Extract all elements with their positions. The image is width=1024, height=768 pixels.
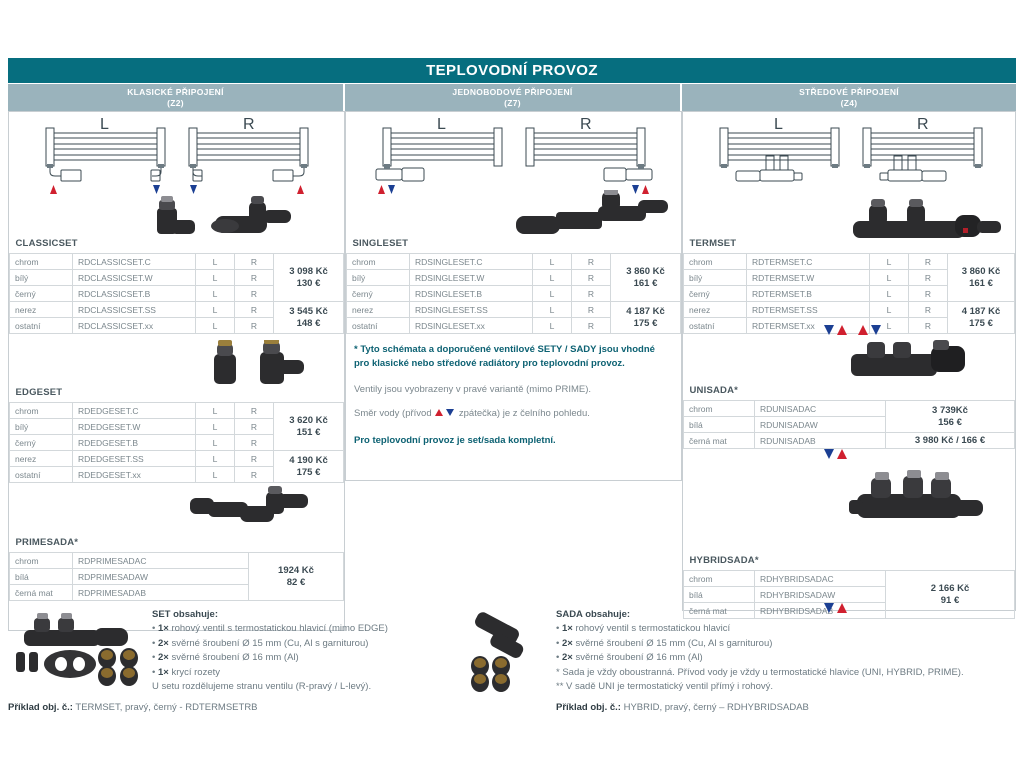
price-eur: 130 € <box>297 278 321 289</box>
set-item-qty: 2× <box>158 638 169 649</box>
finish-cell: nerez <box>347 302 410 318</box>
page-title-banner: TEPLOVODNÍ PROVOZ <box>8 58 1016 83</box>
right-cell: R <box>572 286 611 302</box>
code-cell: RDPRIMESADAW <box>73 569 249 585</box>
finish-cell: nerez <box>10 451 73 467</box>
price-cell-b: 3 545 Kč 148 € <box>274 302 344 334</box>
finish-cell: černý <box>347 286 410 302</box>
set-item-qty: 1× <box>158 667 169 678</box>
price-cell-a: 3 098 Kč 130 € <box>274 254 344 302</box>
flow-arrows-unisada <box>820 448 860 460</box>
table-row: nerez RDTERMSET.SS L R 4 187 Kč 175 € <box>684 302 1015 318</box>
price-czk: 3 739Kč <box>932 405 968 416</box>
left-cell: L <box>196 254 235 270</box>
code-cell: RDTERMSET.B <box>747 286 870 302</box>
right-cell: R <box>909 254 948 270</box>
finish-cell: nerez <box>684 302 747 318</box>
right-cell: R <box>235 270 274 286</box>
right-cell: R <box>235 254 274 270</box>
product-photo-hybridsada <box>845 468 990 533</box>
left-cell: L <box>196 451 235 467</box>
right-cell: R <box>909 286 948 302</box>
set-item-text: svěrné šroubení Ø 16 mm (Al) <box>171 652 298 663</box>
finish-cell: bílá <box>684 587 755 603</box>
code-cell: RDSINGLESET.C <box>410 254 533 270</box>
set-item-text: rohový ventil s termostatickou hlavicí (… <box>171 623 387 634</box>
set-item-qty: 1× <box>158 623 169 634</box>
finish-cell: chrom <box>347 254 410 270</box>
finish-cell: černý <box>10 435 73 451</box>
note-line3-post: zpátečka) je z čelního pohledu. <box>456 408 590 419</box>
schematic-single <box>351 114 676 186</box>
right-cell: R <box>572 270 611 286</box>
product-photo-primesada <box>180 480 320 535</box>
schematic-classic-left-label: L <box>100 116 109 134</box>
left-cell: L <box>533 254 572 270</box>
price-cell: 1924 Kč 82 € <box>249 553 344 601</box>
sada-contents-block: SADA obsahuje: • 1× rohový ventil s term… <box>556 608 1024 695</box>
product-photo-sada-contents <box>460 612 550 692</box>
finish-cell: chrom <box>684 571 755 587</box>
left-cell: L <box>870 270 909 286</box>
table-primesada: PRIMESADA* chrom RDPRIMESADAC 1924 Kč 82… <box>9 533 344 601</box>
table-row: chrom RDEDGESET.C L R 3 620 Kč 151 € <box>10 403 344 419</box>
code-cell: RDUNISADAC <box>755 401 886 417</box>
product-photo-edgeset <box>200 340 320 388</box>
right-cell: R <box>909 318 948 334</box>
list-item: • 1× rohový ventil s termostatickou hlav… <box>556 622 1024 636</box>
finish-cell: ostatní <box>347 318 410 334</box>
finish-cell: chrom <box>684 254 747 270</box>
code-cell: RDEDGESET.C <box>73 403 196 419</box>
table-termset: TERMSET chrom RDTERMSET.C L R 3 860 Kč 1… <box>683 234 1015 334</box>
price-cell-b: 4 187 Kč 175 € <box>611 302 681 334</box>
column-header-center: STŘEDOVÉ PŘIPOJENÍ (Z4) <box>682 84 1016 111</box>
price-czk: 3 545 Kč <box>289 306 328 317</box>
sada-item-qty: 2× <box>562 638 573 649</box>
note-bullet: * Tyto schémata a doporučené ventilové S… <box>354 343 672 371</box>
finish-cell: bílý <box>10 419 73 435</box>
left-cell: L <box>196 286 235 302</box>
schematic-classic <box>14 114 339 186</box>
price-eur: 91 € <box>941 595 960 606</box>
left-cell: L <box>196 435 235 451</box>
product-photo-unisada <box>845 338 975 384</box>
price-eur: 151 € <box>297 427 321 438</box>
left-cell: L <box>533 302 572 318</box>
table-row: nerez RDSINGLESET.SS L R 4 187 Kč 175 € <box>347 302 681 318</box>
price-cell-b: 3 980 Kč / 166 € <box>886 433 1015 449</box>
code-cell: RDUNISADAW <box>755 417 886 433</box>
sada-item-text: rohový ventil s termostatickou hlavicí <box>575 623 730 634</box>
right-cell: R <box>235 302 274 318</box>
code-cell: RDPRIMESADAC <box>73 553 249 569</box>
left-cell: L <box>196 419 235 435</box>
flow-arrows-termset <box>820 324 890 336</box>
column-header-classic-label: KLASICKÉ PŘIPOJENÍ <box>127 87 224 98</box>
column-header-single-code: (Z7) <box>504 98 521 109</box>
price-cell-a: 3 620 Kč 151 € <box>274 403 344 451</box>
table-singleset-title: SINGLESET <box>347 234 681 254</box>
price-eur: 156 € <box>938 417 962 428</box>
finish-cell: bílá <box>10 569 73 585</box>
note-line3: Směr vody (přívod zpátečka) je z čelního… <box>354 407 672 421</box>
code-cell: RDCLASSICSET.W <box>73 270 196 286</box>
column-header-single: JEDNOBODOVÉ PŘIPOJENÍ (Z7) <box>345 84 682 111</box>
table-singleset: SINGLESET chrom RDSINGLESET.C L R 3 860 … <box>346 234 681 334</box>
sada-note-2: ** V sadě UNI je termostatický ventil př… <box>556 680 1024 694</box>
set-example-label: Příklad obj. č.: <box>8 702 73 713</box>
table-row: nerez RDEDGESET.SS L R 4 190 Kč 175 € <box>10 451 344 467</box>
schematic-center-right-label: R <box>917 116 929 134</box>
price-czk: 4 187 Kč <box>962 306 1001 317</box>
table-edgeset: EDGESET chrom RDEDGESET.C L R 3 620 Kč 1… <box>9 383 344 483</box>
list-item: • 2× svěrné šroubení Ø 15 mm (Cu, Al s g… <box>556 637 1024 651</box>
code-cell: RDSINGLESET.xx <box>410 318 533 334</box>
right-cell: R <box>235 435 274 451</box>
price-czk: 3 098 Kč <box>289 266 328 277</box>
right-cell: R <box>572 302 611 318</box>
code-cell: RDTERMSET.W <box>747 270 870 286</box>
set-item-text: krycí rozety <box>171 667 220 678</box>
code-cell: RDEDGESET.SS <box>73 451 196 467</box>
code-cell: RDEDGESET.xx <box>73 467 196 483</box>
finish-cell: ostatní <box>10 467 73 483</box>
right-cell: R <box>235 318 274 334</box>
column-header-center-code: (Z4) <box>841 98 858 109</box>
table-unisada: UNISADA* chrom RDUNISADAC 3 739Kč 156 € … <box>683 381 1015 449</box>
table-row: chrom RDTERMSET.C L R 3 860 Kč 161 € <box>684 254 1015 270</box>
finish-cell: chrom <box>10 553 73 569</box>
sada-example-line: Příklad obj. č.: HYBRID, pravý, černý – … <box>556 702 809 713</box>
price-eur: 175 € <box>297 467 321 478</box>
right-cell: R <box>572 254 611 270</box>
product-photo-set-contents <box>8 608 148 696</box>
code-cell: RDTERMSET.SS <box>747 302 870 318</box>
left-cell: L <box>533 286 572 302</box>
sada-item-qty: 1× <box>562 623 573 634</box>
right-cell: R <box>909 270 948 286</box>
price-czk: 3 860 Kč <box>626 266 665 277</box>
price-eur: 82 € <box>287 577 306 588</box>
table-unisada-title: UNISADA* <box>684 381 1015 401</box>
table-row: chrom RDUNISADAC 3 739Kč 156 € <box>684 401 1015 417</box>
price-eur: 161 € <box>969 278 993 289</box>
schematic-single-left-label: L <box>437 116 446 134</box>
set-item-text: svěrné šroubení Ø 15 mm (Cu, Al s garnit… <box>171 638 368 649</box>
table-primesada-title: PRIMESADA* <box>10 533 344 553</box>
price-cell-a: 3 739Kč 156 € <box>886 401 1015 433</box>
flow-arrow-pair-icon <box>434 408 456 417</box>
left-cell: L <box>196 302 235 318</box>
column-header-center-label: STŘEDOVÉ PŘIPOJENÍ <box>799 87 899 98</box>
left-cell: L <box>196 270 235 286</box>
table-row: chrom RDCLASSICSET.C L R 3 098 Kč 130 € <box>10 254 344 270</box>
price-cell-b: 4 190 Kč 175 € <box>274 451 344 483</box>
sada-item-text: svěrné šroubení Ø 16 mm (Al) <box>575 652 702 663</box>
catalog-page: TEPLOVODNÍ PROVOZ KLASICKÉ PŘIPOJENÍ (Z2… <box>0 0 1024 768</box>
left-cell: L <box>196 318 235 334</box>
price-eur: 175 € <box>634 318 658 329</box>
finish-cell: chrom <box>10 403 73 419</box>
code-cell: RDUNISADAB <box>755 433 886 449</box>
table-row: chrom RDPRIMESADAC 1924 Kč 82 € <box>10 553 344 569</box>
schematic-center <box>688 114 1010 192</box>
right-cell: R <box>909 302 948 318</box>
code-cell: RDSINGLESET.B <box>410 286 533 302</box>
sada-example-value: HYBRID, pravý, černý – RDHYBRIDSADAB <box>624 702 809 713</box>
sada-item-text: svěrné šroubení Ø 15 mm (Cu, Al s garnit… <box>575 638 772 649</box>
list-item: • 2× svěrné šroubení Ø 16 mm (Al) <box>556 651 1024 665</box>
finish-cell: chrom <box>684 401 755 417</box>
price-eur: 175 € <box>969 318 993 329</box>
code-cell: RDHYBRIDSADAC <box>755 571 886 587</box>
finish-cell: černá mat <box>10 585 73 601</box>
set-example-value: TERMSET, pravý, černý - RDTERMSETRB <box>75 702 257 713</box>
right-cell: R <box>572 318 611 334</box>
price-cell-a: 3 860 Kč 161 € <box>948 254 1015 302</box>
price-czk: 3 620 Kč <box>289 415 328 426</box>
table-row: nerez RDCLASSICSET.SS L R 3 545 Kč 148 € <box>10 302 344 318</box>
price-cell-b: 4 187 Kč 175 € <box>948 302 1015 334</box>
code-cell: RDPRIMESADAB <box>73 585 249 601</box>
price-czk: 4 187 Kč <box>626 306 665 317</box>
code-cell: RDTERMSET.C <box>747 254 870 270</box>
set-item-qty: 2× <box>158 652 169 663</box>
left-cell: L <box>533 270 572 286</box>
code-cell: RDCLASSICSET.xx <box>73 318 196 334</box>
left-cell: L <box>870 302 909 318</box>
sada-contents-heading: SADA obsahuje: <box>556 608 1024 622</box>
price-eur: 148 € <box>297 318 321 329</box>
code-cell: RDHYBRIDSADAW <box>755 587 886 603</box>
finish-cell: ostatní <box>10 318 73 334</box>
code-cell: RDCLASSICSET.B <box>73 286 196 302</box>
page-title: TEPLOVODNÍ PROVOZ <box>426 62 598 79</box>
finish-cell: černý <box>684 286 747 302</box>
finish-cell: bílá <box>684 417 755 433</box>
note-line4: Pro teplovodní provoz je set/sada komple… <box>354 434 672 448</box>
code-cell: RDEDGESET.B <box>73 435 196 451</box>
schematic-classic-right-label: R <box>243 116 255 134</box>
schematic-classic-arrows <box>14 182 339 196</box>
finish-cell: bílý <box>684 270 747 286</box>
column-header-classic: KLASICKÉ PŘIPOJENÍ (Z2) <box>8 84 345 111</box>
note-block: * Tyto schémata a doporučené ventilové S… <box>354 343 672 448</box>
price-czk: 1924 Kč <box>278 565 314 576</box>
price-czk: 4 190 Kč <box>289 455 328 466</box>
finish-cell: bílý <box>10 270 73 286</box>
finish-cell: chrom <box>10 254 73 270</box>
column-header-classic-code: (Z2) <box>167 98 184 109</box>
table-classicset: CLASSICSET chrom RDCLASSICSET.C L R 3 09… <box>9 234 344 334</box>
finish-cell: černá mat <box>684 433 755 449</box>
finish-cell: černý <box>10 286 73 302</box>
finish-cell: ostatní <box>684 318 747 334</box>
left-cell: L <box>870 254 909 270</box>
price-czk: 2 166 Kč <box>931 583 970 594</box>
schematic-center-left-label: L <box>774 116 783 134</box>
right-cell: R <box>235 403 274 419</box>
price-eur: 161 € <box>634 278 658 289</box>
table-row: chrom RDSINGLESET.C L R 3 860 Kč 161 € <box>347 254 681 270</box>
table-hybridsada-title: HYBRIDSADA* <box>684 551 1015 571</box>
left-cell: L <box>196 403 235 419</box>
column-header-single-label: JEDNOBODOVÉ PŘIPOJENÍ <box>452 87 572 98</box>
code-cell: RDCLASSICSET.C <box>73 254 196 270</box>
left-cell: L <box>870 286 909 302</box>
code-cell: RDSINGLESET.SS <box>410 302 533 318</box>
sada-example-label: Příklad obj. č.: <box>556 702 621 713</box>
code-cell: RDSINGLESET.W <box>410 270 533 286</box>
left-cell: L <box>533 318 572 334</box>
finish-cell: bílý <box>347 270 410 286</box>
price-czk: 3 860 Kč <box>962 266 1001 277</box>
set-example-line: Příklad obj. č.: TERMSET, pravý, černý -… <box>8 702 258 713</box>
sada-note-1: * Sada je vždy oboustranná. Přívod vody … <box>556 666 1024 680</box>
right-cell: R <box>235 286 274 302</box>
sada-item-qty: 2× <box>562 652 573 663</box>
right-cell: R <box>235 451 274 467</box>
code-cell: RDCLASSICSET.SS <box>73 302 196 318</box>
table-edgeset-title: EDGESET <box>10 383 344 403</box>
price-cell-a: 3 860 Kč 161 € <box>611 254 681 302</box>
table-classicset-title: CLASSICSET <box>10 234 344 254</box>
table-row: černá mat RDUNISADAB 3 980 Kč / 166 € <box>684 433 1015 449</box>
right-cell: R <box>235 419 274 435</box>
table-row: chrom RDHYBRIDSADAC 2 166 Kč 91 € <box>684 571 1015 587</box>
note-line2: Ventily jsou vyobrazeny v pravé variantě… <box>354 383 672 397</box>
schematic-single-right-label: R <box>580 116 592 134</box>
code-cell: RDEDGESET.W <box>73 419 196 435</box>
table-termset-title: TERMSET <box>684 234 1015 254</box>
finish-cell: nerez <box>10 302 73 318</box>
note-line3-pre: Směr vody (přívod <box>354 408 434 419</box>
